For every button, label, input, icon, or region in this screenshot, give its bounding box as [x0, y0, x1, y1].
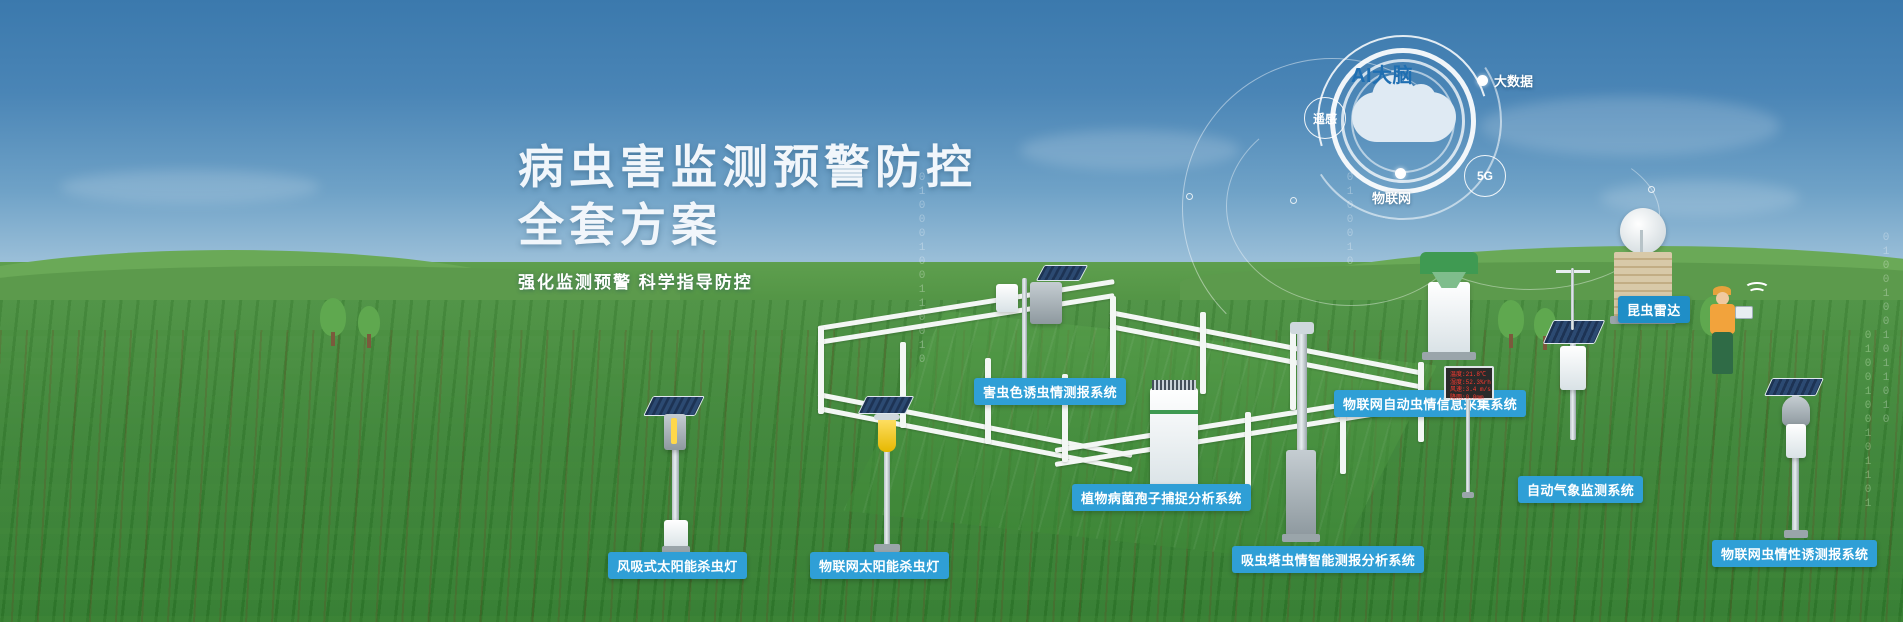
- wind-lamp-tube: [671, 418, 677, 444]
- binary-stream-3: 01001001011010: [1880, 232, 1892, 428]
- connector-endpoint-mid: [1290, 197, 1297, 204]
- weather-solar-panel: [1543, 320, 1606, 344]
- pheromone-solar: [1764, 378, 1824, 396]
- led-line-2: 湿度:52.3%rh: [1450, 379, 1488, 387]
- label-spore-capture[interactable]: 植物病菌孢子捕捉分析系统: [1072, 484, 1251, 511]
- color-trap-solar: [1036, 265, 1089, 281]
- collector-cabinet: [1428, 282, 1470, 354]
- pheromone-collector: [1786, 424, 1806, 458]
- binary-stream-4: 0100100101101: [1862, 330, 1874, 512]
- node-dot-big-data: [1477, 75, 1488, 86]
- wind-lamp-controller: [664, 520, 688, 548]
- color-trap-panel: [996, 284, 1018, 312]
- fence-post-10: [1200, 312, 1206, 394]
- connector-endpoint-right: [1648, 186, 1655, 193]
- weather-sensor-mast: [1571, 268, 1574, 330]
- connector-endpoint-left: [1186, 193, 1193, 200]
- led-line-3: 风速:3.4 m/s: [1450, 386, 1488, 394]
- color-trap-body: [1030, 282, 1062, 324]
- fence-post-9: [1110, 296, 1116, 380]
- cloud-icon: [1352, 92, 1456, 142]
- worker-tablet[interactable]: [1735, 306, 1753, 319]
- iot-lamp-ring: [874, 414, 900, 420]
- tree-right-1: [1498, 300, 1524, 348]
- collector-canopy: [1420, 252, 1478, 274]
- radar-feed-arm: [1640, 230, 1643, 252]
- led-board-pole: [1466, 396, 1470, 494]
- led-line-1: 温度:21.8℃: [1450, 371, 1488, 379]
- page-subtitle: 强化监测预警 科学指导防控: [518, 268, 977, 293]
- led-panel: 温度:21.8℃ 湿度:52.3%rh 风速:3.4 m/s 降雨:0.0mm: [1444, 366, 1494, 400]
- hero-text-block: 病虫害监测预警防控 全套方案 强化监测预警 科学指导防控: [518, 138, 977, 293]
- weather-controller-box: [1560, 346, 1586, 390]
- node-label-5g: 5G: [1477, 169, 1493, 183]
- spore-cabinet: [1150, 388, 1198, 492]
- label-wind-solar-lamp[interactable]: 风吸式太阳能杀虫灯: [608, 552, 747, 579]
- pheromone-base: [1784, 530, 1808, 538]
- color-trap-pole: [1022, 278, 1027, 388]
- node-label-remote-sensing: 遥感: [1313, 110, 1337, 127]
- worker-torso: [1710, 304, 1735, 334]
- node-dot-iot: [1395, 168, 1406, 179]
- iot-lamp-lamp: [878, 418, 896, 452]
- tree-left-1: [320, 298, 346, 346]
- suction-tower-cabinet: [1286, 450, 1316, 536]
- collector-base: [1422, 352, 1476, 360]
- label-insect-radar[interactable]: 昆虫雷达: [1618, 296, 1690, 323]
- led-line-4: 降雨:0.0mm: [1450, 394, 1488, 402]
- cloud-shape-1: [60, 170, 320, 204]
- label-iot-pheromone-trap[interactable]: 物联网虫情性诱测报系统: [1712, 540, 1877, 567]
- label-iot-solar-lamp[interactable]: 物联网太阳能杀虫灯: [810, 552, 949, 579]
- suction-tower-intake: [1290, 322, 1314, 334]
- spore-cabinet-vent: [1152, 380, 1196, 390]
- iot-lamp-solar: [858, 396, 915, 414]
- led-board-base: [1462, 492, 1474, 498]
- poster-stage: 01000100110010 0100010 01001001011010 01…: [0, 0, 1903, 622]
- page-title-line-1: 病虫害监测预警防控: [518, 138, 977, 196]
- node-badge-5g[interactable]: 5G: [1464, 155, 1506, 197]
- label-pest-color-trap[interactable]: 害虫色诱虫情测报系统: [974, 378, 1126, 405]
- fence-post-1: [818, 326, 824, 414]
- label-iot-pest-collector[interactable]: 物联网自动虫情信息采集系统: [1334, 390, 1526, 417]
- iot-lamp-base: [874, 544, 900, 552]
- radar-dish-icon: [1620, 208, 1666, 254]
- node-badge-remote-sensing[interactable]: 遥感: [1304, 97, 1346, 139]
- spore-cabinet-stripe: [1150, 410, 1198, 414]
- node-label-iot: 物联网: [1372, 188, 1411, 207]
- page-title-line-2: 全套方案: [518, 196, 977, 254]
- node-label-big-data: 大数据: [1494, 71, 1533, 90]
- wind-lamp-solar: [643, 396, 705, 416]
- tree-left-2: [358, 306, 380, 348]
- pheromone-head: [1782, 396, 1810, 426]
- label-auto-weather[interactable]: 自动气象监测系统: [1518, 476, 1643, 503]
- fence-post-2: [900, 342, 906, 428]
- wifi-icon-outer: [1744, 282, 1770, 296]
- ai-brain-label: AI大脑: [1330, 48, 1434, 98]
- worker-legs: [1712, 332, 1733, 374]
- label-suction-tower[interactable]: 吸虫塔虫情智能测报分析系统: [1232, 546, 1424, 573]
- suction-tower-base: [1282, 534, 1320, 542]
